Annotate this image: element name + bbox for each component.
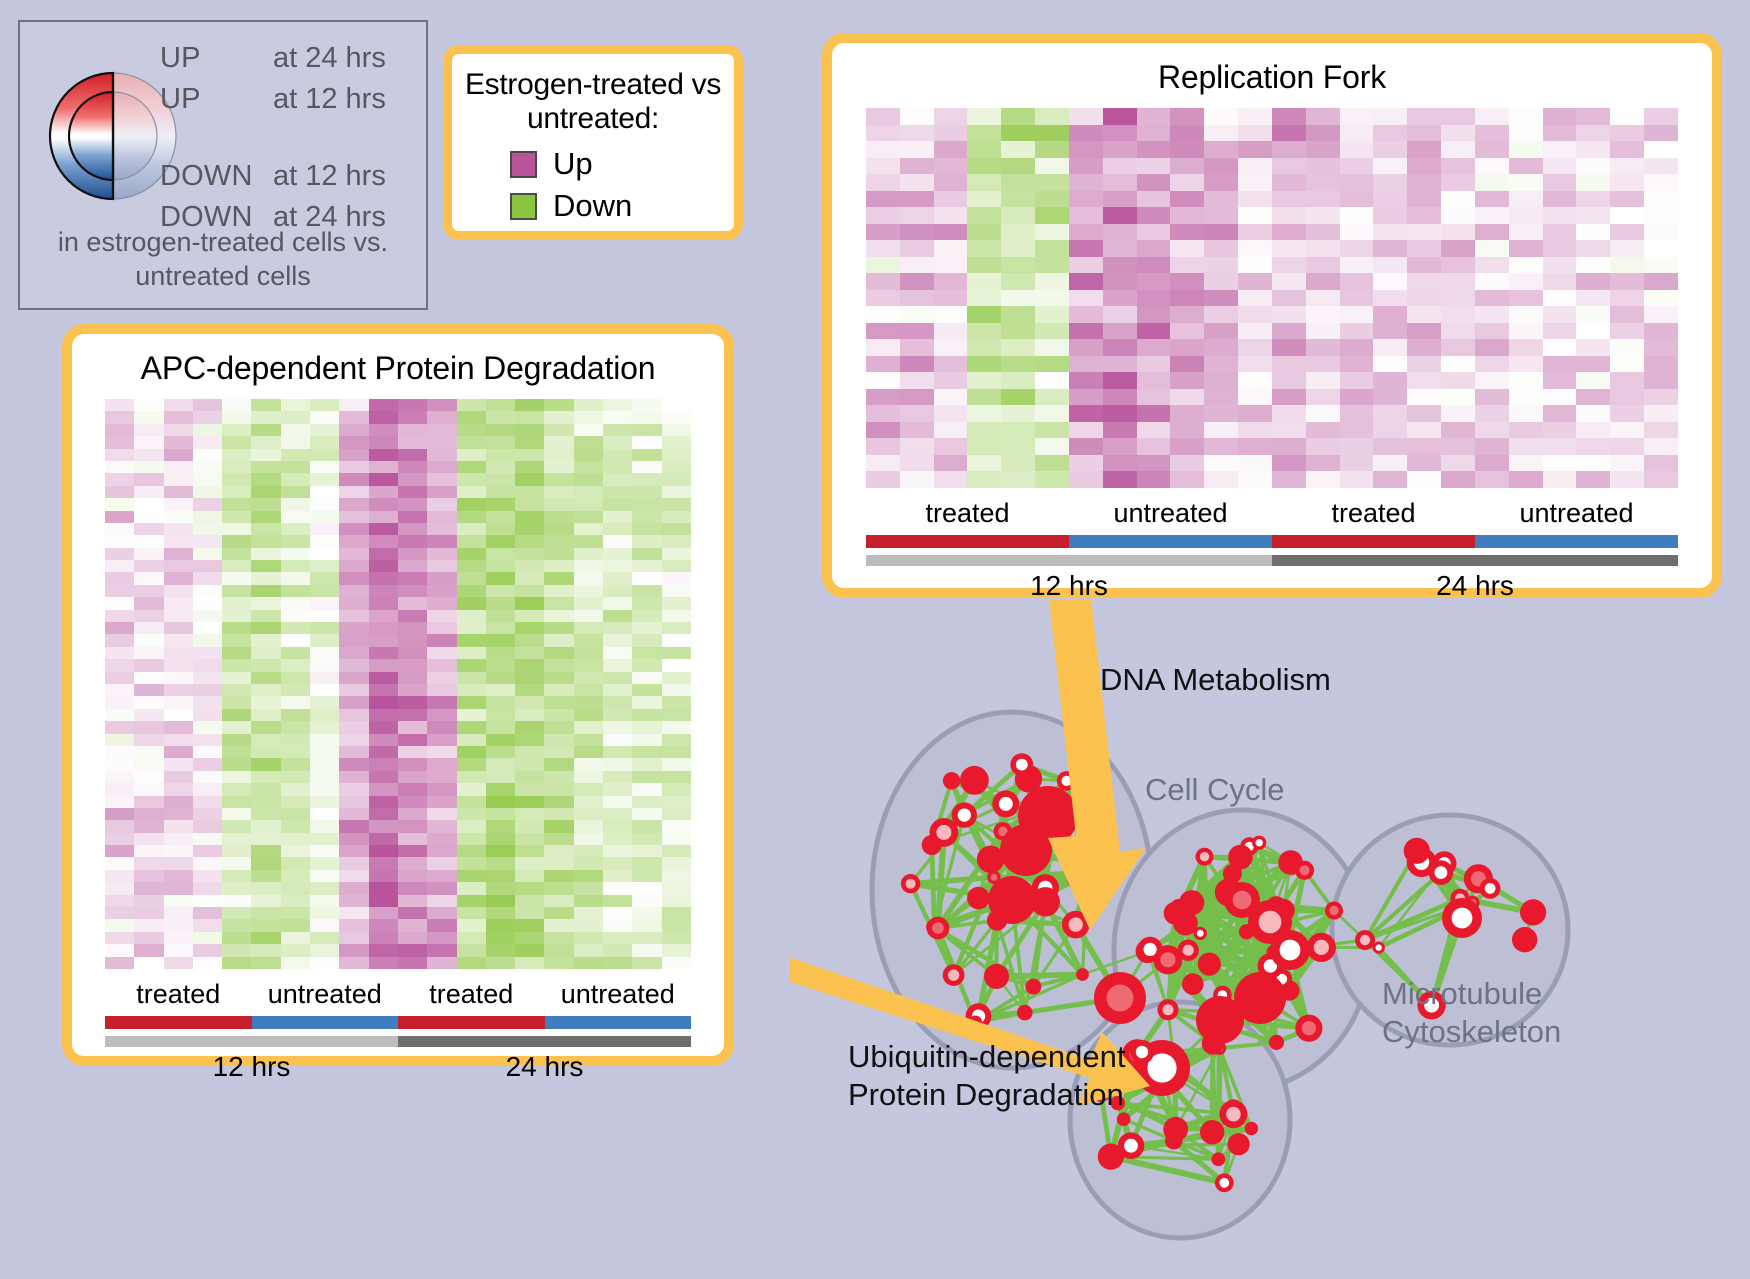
heatmap-cell <box>486 436 515 448</box>
heatmap-cell <box>1069 323 1103 340</box>
heatmap-cell <box>934 339 968 356</box>
heatmap-cell <box>310 486 339 498</box>
heatmap-cell <box>900 125 934 142</box>
heatmap-cell <box>603 919 632 931</box>
heatmap-cell <box>105 919 134 931</box>
heatmap-cell <box>1475 290 1509 307</box>
heatmap-cell <box>515 511 544 523</box>
heatmap-cell <box>1272 306 1306 323</box>
heatmap-cell <box>1509 471 1543 488</box>
heatmap-cell <box>222 498 251 510</box>
heatmap-cell <box>866 339 900 356</box>
heatmap-cell <box>193 709 222 721</box>
heatmap-cell <box>310 895 339 907</box>
heatmap-cell <box>398 548 427 560</box>
heatmap-cell <box>1069 108 1103 125</box>
heatmap-cell <box>1441 174 1475 191</box>
heatmap-cell <box>866 471 900 488</box>
heatmap-cell <box>193 944 222 956</box>
heatmap-cell <box>662 659 691 671</box>
heatmap-cell <box>339 771 368 783</box>
heatmap-cell <box>134 709 163 721</box>
heatmap-cell <box>281 436 310 448</box>
condition-label: treated <box>105 979 252 1010</box>
heatmap-cell <box>193 796 222 808</box>
cluster-label-cell-cycle: Cell Cycle <box>1145 772 1285 808</box>
heatmap-cell <box>251 535 280 547</box>
heatmap-cell <box>1069 389 1103 406</box>
heatmap-cell <box>1475 405 1509 422</box>
heatmap-cell <box>193 684 222 696</box>
heatmap-cell <box>251 610 280 622</box>
heatmap-cell <box>866 438 900 455</box>
heatmap-cell <box>1340 257 1374 274</box>
heatmap-cell <box>457 709 486 721</box>
heatmap-cell <box>193 820 222 832</box>
heatmap-cell <box>574 622 603 634</box>
heatmap-cell <box>310 796 339 808</box>
heatmap-cell <box>934 141 968 158</box>
heatmap-cell <box>1272 323 1306 340</box>
heatmap-cell <box>251 634 280 646</box>
heatmap-cell <box>544 944 573 956</box>
heatmap-cell <box>900 422 934 439</box>
heatmap-cell <box>1407 257 1441 274</box>
heatmap-cell <box>1610 339 1644 356</box>
heatmap-cell <box>1306 372 1340 389</box>
heatmap-cell <box>369 498 398 510</box>
heatmap-cell <box>934 323 968 340</box>
heatmap-cell <box>134 622 163 634</box>
heatmap-cell <box>603 535 632 547</box>
heatmap-cell <box>164 932 193 944</box>
heatmap-cell <box>105 882 134 894</box>
heatmap-cell <box>398 461 427 473</box>
up-down-ring-icon <box>48 36 178 236</box>
heatmap-cell <box>603 746 632 758</box>
network-node-core <box>990 874 997 881</box>
heatmap-cell <box>866 240 900 257</box>
heatmap-cell <box>1543 389 1577 406</box>
heatmap-cell <box>574 684 603 696</box>
heatmap-cell <box>457 585 486 597</box>
condition-label: untreated <box>545 979 692 1010</box>
heatmap-cell <box>1610 323 1644 340</box>
heatmap-cell <box>164 758 193 770</box>
heatmap-cell <box>369 461 398 473</box>
heatmap-cell <box>398 424 427 436</box>
heatmap-cell <box>662 597 691 609</box>
heatmap-cell <box>1373 174 1407 191</box>
heatmap-cell <box>574 449 603 461</box>
heatmap-cell <box>339 523 368 535</box>
heatmap-cell <box>515 523 544 535</box>
heatmap-cell <box>1035 273 1069 290</box>
heatmap-cell <box>369 511 398 523</box>
heatmap-cell <box>1543 191 1577 208</box>
heatmap-cell <box>1170 257 1204 274</box>
heatmap-cell <box>1475 158 1509 175</box>
condition-labels: treateduntreatedtreateduntreated <box>866 498 1678 529</box>
heatmap-cell <box>222 461 251 473</box>
heatmap-cell <box>193 659 222 671</box>
heatmap-cell <box>134 572 163 584</box>
heatmap-cell <box>222 696 251 708</box>
heatmap-cell <box>427 709 456 721</box>
heatmap-cell <box>1306 306 1340 323</box>
heatmap-cell <box>900 471 934 488</box>
heatmap-cell <box>544 907 573 919</box>
heatmap-cell <box>544 424 573 436</box>
heatmap-cell <box>398 746 427 758</box>
heatmap-cell <box>1644 191 1678 208</box>
heatmap-cell <box>310 548 339 560</box>
heatmap-cell <box>1035 207 1069 224</box>
heatmap-cell <box>134 560 163 572</box>
heatmap-cell <box>281 449 310 461</box>
heatmap-cell <box>1272 438 1306 455</box>
heatmap-cell <box>398 932 427 944</box>
heatmap-cell <box>632 548 661 560</box>
heatmap-cell <box>662 411 691 423</box>
network-node <box>943 772 960 789</box>
heatmap-cell <box>866 108 900 125</box>
timepoint-labels: 12 hrs24 hrs <box>866 566 1678 602</box>
heatmap-cell <box>457 647 486 659</box>
heatmap-cell <box>369 684 398 696</box>
heatmap-cell <box>515 461 544 473</box>
heatmap-cell <box>1035 455 1069 472</box>
heatmap-cell <box>603 634 632 646</box>
heatmap-cell <box>632 424 661 436</box>
heatmap-cell <box>427 919 456 931</box>
heatmap-cell <box>1306 174 1340 191</box>
heatmap-cell <box>1001 290 1035 307</box>
heatmap-cell <box>1103 158 1137 175</box>
heatmap-cell <box>222 560 251 572</box>
heatmap-cell <box>281 944 310 956</box>
heatmap-cell <box>934 290 968 307</box>
heatmap-cell <box>1238 389 1272 406</box>
heatmap-cell <box>427 622 456 634</box>
heatmap-cell <box>1509 174 1543 191</box>
heatmap-cell <box>515 796 544 808</box>
network-node <box>988 876 1036 924</box>
heatmap-cell <box>662 907 691 919</box>
heatmap-cell <box>105 610 134 622</box>
heatmap-cell <box>251 796 280 808</box>
heatmap-cell <box>1069 257 1103 274</box>
heatmap-cell <box>105 684 134 696</box>
heatmap-cell <box>105 758 134 770</box>
heatmap-cell <box>603 511 632 523</box>
heatmap-cell <box>1306 455 1340 472</box>
heatmap-cell <box>164 659 193 671</box>
heatmap-cell <box>934 224 968 241</box>
heatmap-cell <box>515 560 544 572</box>
heatmap-cell <box>967 455 1001 472</box>
heatmap-cell <box>486 535 515 547</box>
heatmap-cell <box>1644 174 1678 191</box>
heatmap-cell <box>1373 273 1407 290</box>
heatmap-cell <box>398 672 427 684</box>
heatmap-cell <box>934 471 968 488</box>
heatmap-cell <box>427 634 456 646</box>
heatmap-cell <box>1069 356 1103 373</box>
heatmap-cell <box>544 957 573 969</box>
cluster-label-microtubule: Microtubule Cytoskeleton <box>1382 975 1561 1051</box>
heatmap-cell <box>427 548 456 560</box>
heatmap-cell <box>632 399 661 411</box>
heatmap-cell <box>1272 405 1306 422</box>
heatmap-cell <box>1306 389 1340 406</box>
heatmap-cell <box>603 461 632 473</box>
heatmap-cell <box>281 585 310 597</box>
network-node <box>1117 1112 1131 1126</box>
heatmap-cell <box>398 659 427 671</box>
heatmap-cell <box>222 585 251 597</box>
heatmap-cell <box>427 572 456 584</box>
heatmap-cell <box>1373 471 1407 488</box>
heatmap-cell <box>193 597 222 609</box>
heatmap-cell <box>574 473 603 485</box>
heatmap-cell <box>310 734 339 746</box>
heatmap-cell <box>134 647 163 659</box>
heatmap-cell <box>339 461 368 473</box>
heatmap-cell <box>1069 174 1103 191</box>
heatmap-cell <box>900 158 934 175</box>
heatmap-cell <box>134 436 163 448</box>
heatmap-cell <box>574 944 603 956</box>
heatmap-cell <box>398 783 427 795</box>
heatmap-cell <box>1576 191 1610 208</box>
heatmap-cell <box>934 125 968 142</box>
heatmap-cell <box>1373 356 1407 373</box>
heatmap-cell <box>662 721 691 733</box>
heatmap-cell <box>134 449 163 461</box>
heatmap-cell <box>398 597 427 609</box>
heatmap-cell <box>1306 191 1340 208</box>
heatmap-cell <box>222 548 251 560</box>
heatmap-cell <box>427 684 456 696</box>
heatmap-cell <box>662 622 691 634</box>
heatmap-cell <box>427 907 456 919</box>
heatmap-cell <box>281 709 310 721</box>
heatmap-cell <box>222 783 251 795</box>
heatmap-cell <box>251 721 280 733</box>
heatmap-cell <box>662 486 691 498</box>
heatmap-cell <box>1543 257 1577 274</box>
heatmap-cell <box>1441 207 1475 224</box>
condition-label: treated <box>1272 498 1475 529</box>
heatmap-cell <box>1576 306 1610 323</box>
heatmap-cell <box>1441 372 1475 389</box>
heatmap-cell <box>1306 207 1340 224</box>
condition-colour-bar <box>105 1016 691 1029</box>
heatmap-cell <box>1001 323 1035 340</box>
heatmap-cell <box>515 498 544 510</box>
heatmap-cell <box>1272 290 1306 307</box>
heatmap-cell <box>369 709 398 721</box>
key-row: DOWN at 12 hrs <box>160 160 420 201</box>
heatmap-cell <box>457 424 486 436</box>
heatmap-cell <box>574 585 603 597</box>
heatmap-cell <box>1509 455 1543 472</box>
heatmap-cell <box>1170 158 1204 175</box>
heatmap-cell <box>662 560 691 572</box>
heatmap-cell <box>515 634 544 646</box>
heatmap-cell <box>486 548 515 560</box>
heatmap-cell <box>1238 158 1272 175</box>
heatmap-cell <box>398 796 427 808</box>
key-time: at 12 hrs <box>273 160 386 193</box>
heatmap-cell <box>1306 158 1340 175</box>
heatmap-cell <box>574 771 603 783</box>
heatmap-cell <box>1509 389 1543 406</box>
heatmap-cell <box>310 473 339 485</box>
heatmap-cell <box>1340 389 1374 406</box>
heatmap-cell <box>339 919 368 931</box>
heatmap-cell <box>339 882 368 894</box>
heatmap-cell <box>900 174 934 191</box>
heatmap-cell <box>1610 438 1644 455</box>
heatmap-cell <box>1103 125 1137 142</box>
heatmap-cell <box>369 436 398 448</box>
heatmap-cell <box>281 560 310 572</box>
heatmap-cell <box>339 870 368 882</box>
heatmap-cell <box>369 820 398 832</box>
heatmap-cell <box>105 845 134 857</box>
heatmap-cell <box>134 498 163 510</box>
heatmap-cell <box>457 895 486 907</box>
heatmap-cell <box>662 734 691 746</box>
heatmap-cell <box>457 498 486 510</box>
heatmap-cell <box>967 422 1001 439</box>
heatmap-cell <box>369 548 398 560</box>
heatmap-cell <box>574 870 603 882</box>
heatmap-cell <box>1610 108 1644 125</box>
heatmap-cell <box>105 560 134 572</box>
heatmap-cell <box>1035 257 1069 274</box>
heatmap-cell <box>515 672 544 684</box>
heatmap-cell <box>1238 306 1272 323</box>
heatmap-cell <box>934 158 968 175</box>
heatmap-cell <box>1543 224 1577 241</box>
heatmap-cell <box>515 548 544 560</box>
heatmap-cell <box>222 870 251 882</box>
heatmap-cell <box>544 486 573 498</box>
heatmap-cell <box>134 684 163 696</box>
heatmap-cell <box>1069 191 1103 208</box>
heatmap-cell <box>515 585 544 597</box>
heatmap-cell <box>486 585 515 597</box>
heatmap-cell <box>632 560 661 572</box>
heatmap-cell <box>457 758 486 770</box>
heatmap-cell <box>486 895 515 907</box>
heatmap-cell <box>398 758 427 770</box>
heatmap-cell <box>1001 174 1035 191</box>
up-down-legend-title: Estrogen-treated vs untreated: <box>452 54 734 135</box>
heatmap-cell <box>1610 372 1644 389</box>
heatmap-cell <box>193 473 222 485</box>
heatmap-cell <box>427 808 456 820</box>
heatmap-cell <box>222 610 251 622</box>
network-node-core <box>1197 930 1204 937</box>
heatmap-cell <box>603 597 632 609</box>
heatmap-cell <box>251 845 280 857</box>
heatmap-cell <box>574 746 603 758</box>
heatmap-cell <box>1272 339 1306 356</box>
heatmap-cell <box>1407 422 1441 439</box>
heatmap-cell <box>105 585 134 597</box>
heatmap-cell <box>1441 323 1475 340</box>
heatmap-cell <box>369 486 398 498</box>
heatmap-cell <box>369 808 398 820</box>
heatmap-cell <box>1475 141 1509 158</box>
heatmap-cell <box>1103 224 1137 241</box>
heatmap-cell <box>662 882 691 894</box>
heatmap-cell <box>1576 422 1610 439</box>
heatmap-cell <box>251 659 280 671</box>
heatmap-cell <box>544 919 573 931</box>
heatmap-cell <box>1170 240 1204 257</box>
heatmap-cell <box>164 857 193 869</box>
key-row: UP at 24 hrs <box>160 42 420 83</box>
heatmap-cell <box>281 399 310 411</box>
network-node-core <box>1233 891 1252 910</box>
heatmap-cell <box>427 721 456 733</box>
heatmap-cell <box>544 796 573 808</box>
heatmap-cell <box>662 399 691 411</box>
network-node-core <box>1259 911 1282 934</box>
heatmap-cell <box>1373 306 1407 323</box>
heatmap-cell <box>1407 174 1441 191</box>
heatmap-cell <box>105 424 134 436</box>
legend-label: Up <box>553 146 593 182</box>
heatmap-cell <box>515 771 544 783</box>
heatmap-cell <box>486 523 515 535</box>
heatmap-cell <box>251 473 280 485</box>
heatmap-cell <box>193 957 222 969</box>
heatmap-cell <box>251 746 280 758</box>
heatmap-cell <box>281 647 310 659</box>
heatmap-cell <box>369 424 398 436</box>
heatmap-cell <box>105 411 134 423</box>
heatmap-cell <box>164 585 193 597</box>
heatmap-cell <box>866 257 900 274</box>
heatmap-cell <box>164 647 193 659</box>
heatmap-cell <box>222 535 251 547</box>
heatmap-cell <box>1373 125 1407 142</box>
heatmap-cell <box>222 895 251 907</box>
heatmap-cell <box>164 523 193 535</box>
heatmap-cell <box>1644 306 1678 323</box>
heatmap-cell <box>398 622 427 634</box>
heatmap-cell <box>486 672 515 684</box>
heatmap-cell <box>457 796 486 808</box>
heatmap-cell <box>1306 141 1340 158</box>
heatmap-cell <box>1340 207 1374 224</box>
heatmap-cell <box>515 758 544 770</box>
heatmap-cell <box>222 721 251 733</box>
heatmap-cell <box>486 610 515 622</box>
network-node <box>1025 979 1041 995</box>
heatmap-cell <box>1407 158 1441 175</box>
heatmap-cell <box>544 411 573 423</box>
heatmap-cell <box>310 436 339 448</box>
heatmap-cell <box>222 919 251 931</box>
heatmap-cell <box>164 486 193 498</box>
